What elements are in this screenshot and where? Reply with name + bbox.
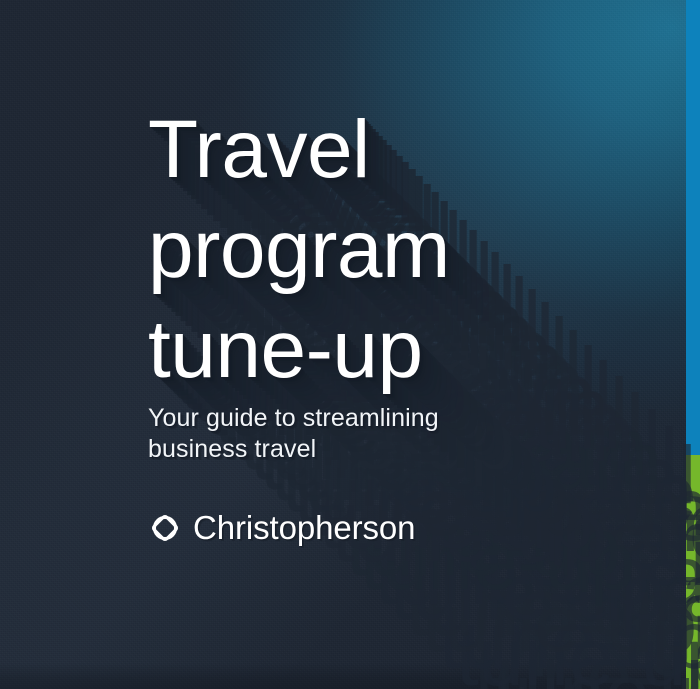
title-line-1: Travel bbox=[148, 100, 568, 200]
ebook-cover: Travel program tune-up Your guide to str… bbox=[0, 0, 700, 689]
page-title: Travel program tune-up bbox=[148, 100, 568, 400]
christopherson-pinwheel-icon bbox=[148, 511, 182, 545]
cover-content: Travel program tune-up Your guide to str… bbox=[148, 0, 700, 689]
title-line-2: program bbox=[148, 200, 568, 300]
brand-logo-lockup: Christopherson bbox=[148, 511, 415, 545]
brand-name: Christopherson bbox=[193, 511, 415, 545]
title-line-3: tune-up bbox=[148, 300, 568, 400]
subtitle-line-2: business travel bbox=[148, 434, 548, 465]
page-subtitle: Your guide to streamlining business trav… bbox=[148, 403, 548, 465]
subtitle-line-1: Your guide to streamlining bbox=[148, 403, 548, 434]
